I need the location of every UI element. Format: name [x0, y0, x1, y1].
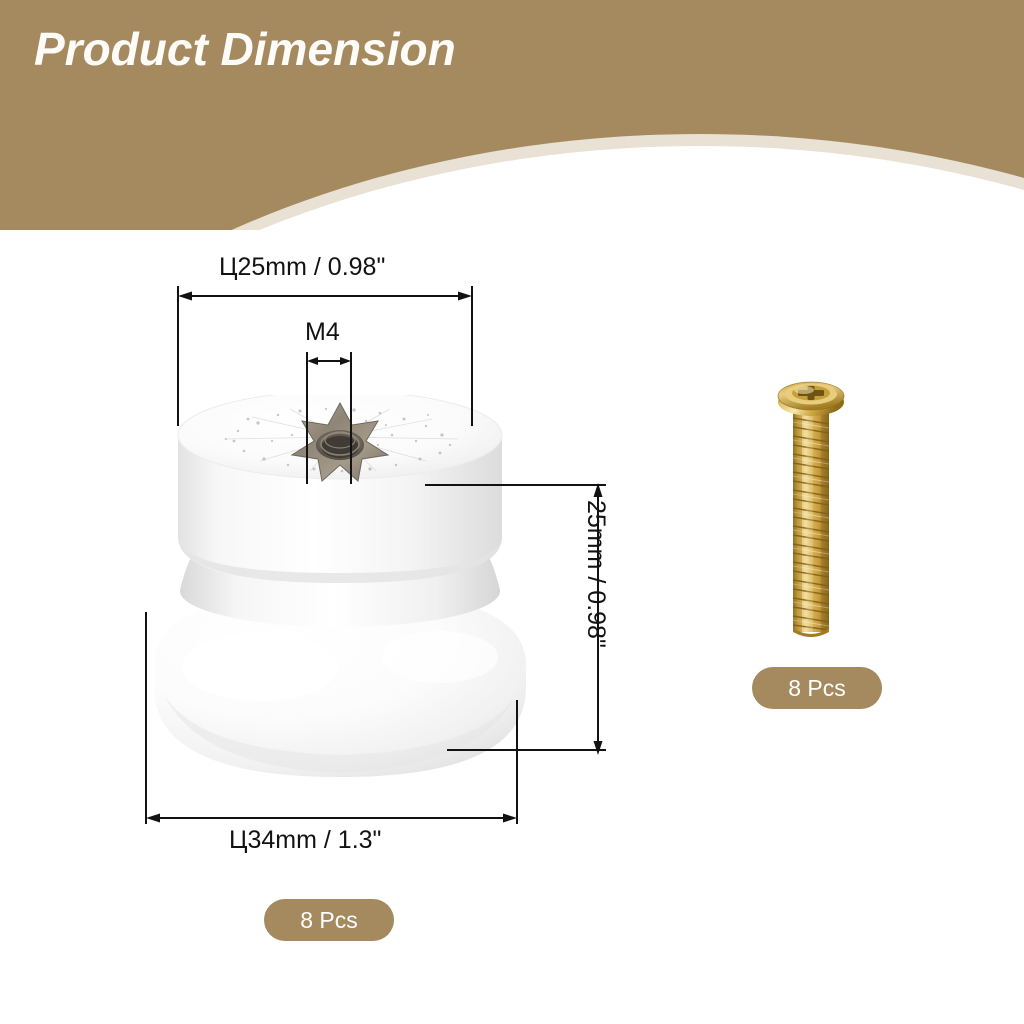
- badge-knob-quantity: 8 Pcs: [264, 899, 394, 941]
- dimension-label-thread-size: M4: [305, 318, 340, 347]
- dimension-line-thread-size: [300, 352, 360, 492]
- product-dimension-figure: Product Dimension: [0, 0, 1024, 1024]
- badge-screw-quantity: 8 Pcs: [752, 667, 882, 709]
- page-title: Product Dimension: [34, 22, 456, 76]
- header-banner: Product Dimension: [0, 0, 1024, 230]
- badge-knob-quantity-label: 8 Pcs: [300, 907, 358, 934]
- badge-screw-quantity-label: 8 Pcs: [788, 675, 846, 702]
- screw-product-image: [776, 366, 846, 642]
- dimension-label-top-diameter: Ц25mm / 0.98": [219, 253, 385, 282]
- dimension-label-height: 25mm / 0.98": [581, 500, 610, 648]
- screw-head: [778, 382, 844, 416]
- dimension-label-base-diameter: Ц34mm / 1.3": [229, 826, 381, 855]
- dimension-line-base-diameter: [138, 612, 528, 832]
